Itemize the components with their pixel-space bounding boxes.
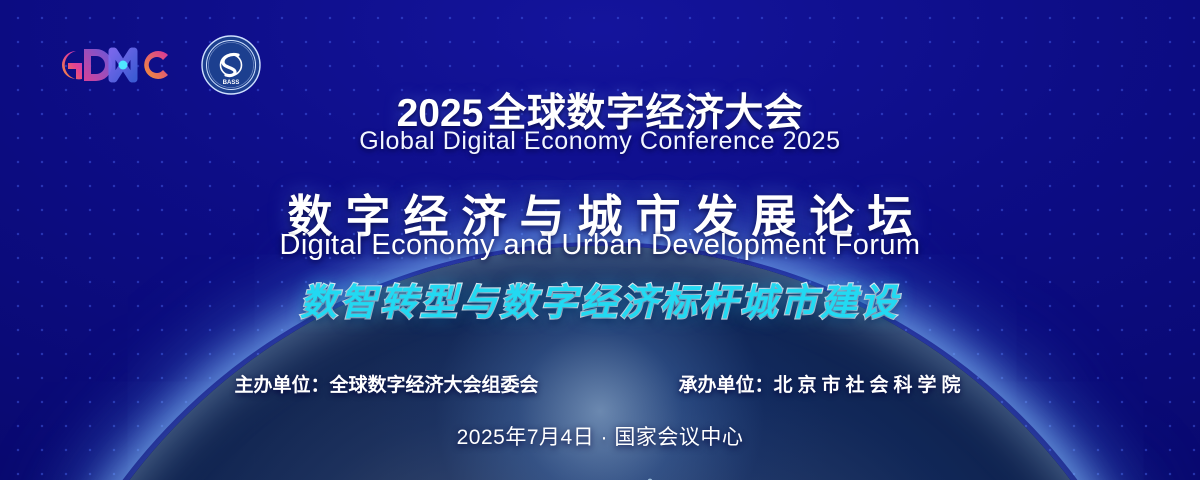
organizer-coorganizer: 承办单位：北京市社会科学院 (679, 370, 966, 397)
organizer-host: 主办单位：全球数字经济大会组委会 (234, 370, 538, 397)
conference-banner: GDEC BASS 2025全球数字经济大会 Global Digital Ec… (0, 0, 1200, 480)
organizer-coorganizer-label: 承办单位： (679, 375, 774, 396)
conference-title-en: Global Digital Economy Conference 2025 (0, 127, 1200, 156)
forum-slogan: 数智转型与数字经济标杆城市建设 (0, 272, 1200, 326)
organizer-coorganizer-name: 北京市社会科学院 (774, 375, 966, 396)
organizer-host-label: 主办单位： (234, 375, 329, 396)
organizer-host-name: 全球数字经济大会组委会 (329, 375, 538, 396)
forum-title-en: Digital Economy and Urban Development Fo… (0, 229, 1200, 262)
date-venue-text: 2025年7月4日 · 国家会议中心 (0, 421, 1200, 451)
organizer-row: 主办单位：全球数字经济大会组委会 承办单位：北京市社会科学院 (0, 370, 1200, 397)
